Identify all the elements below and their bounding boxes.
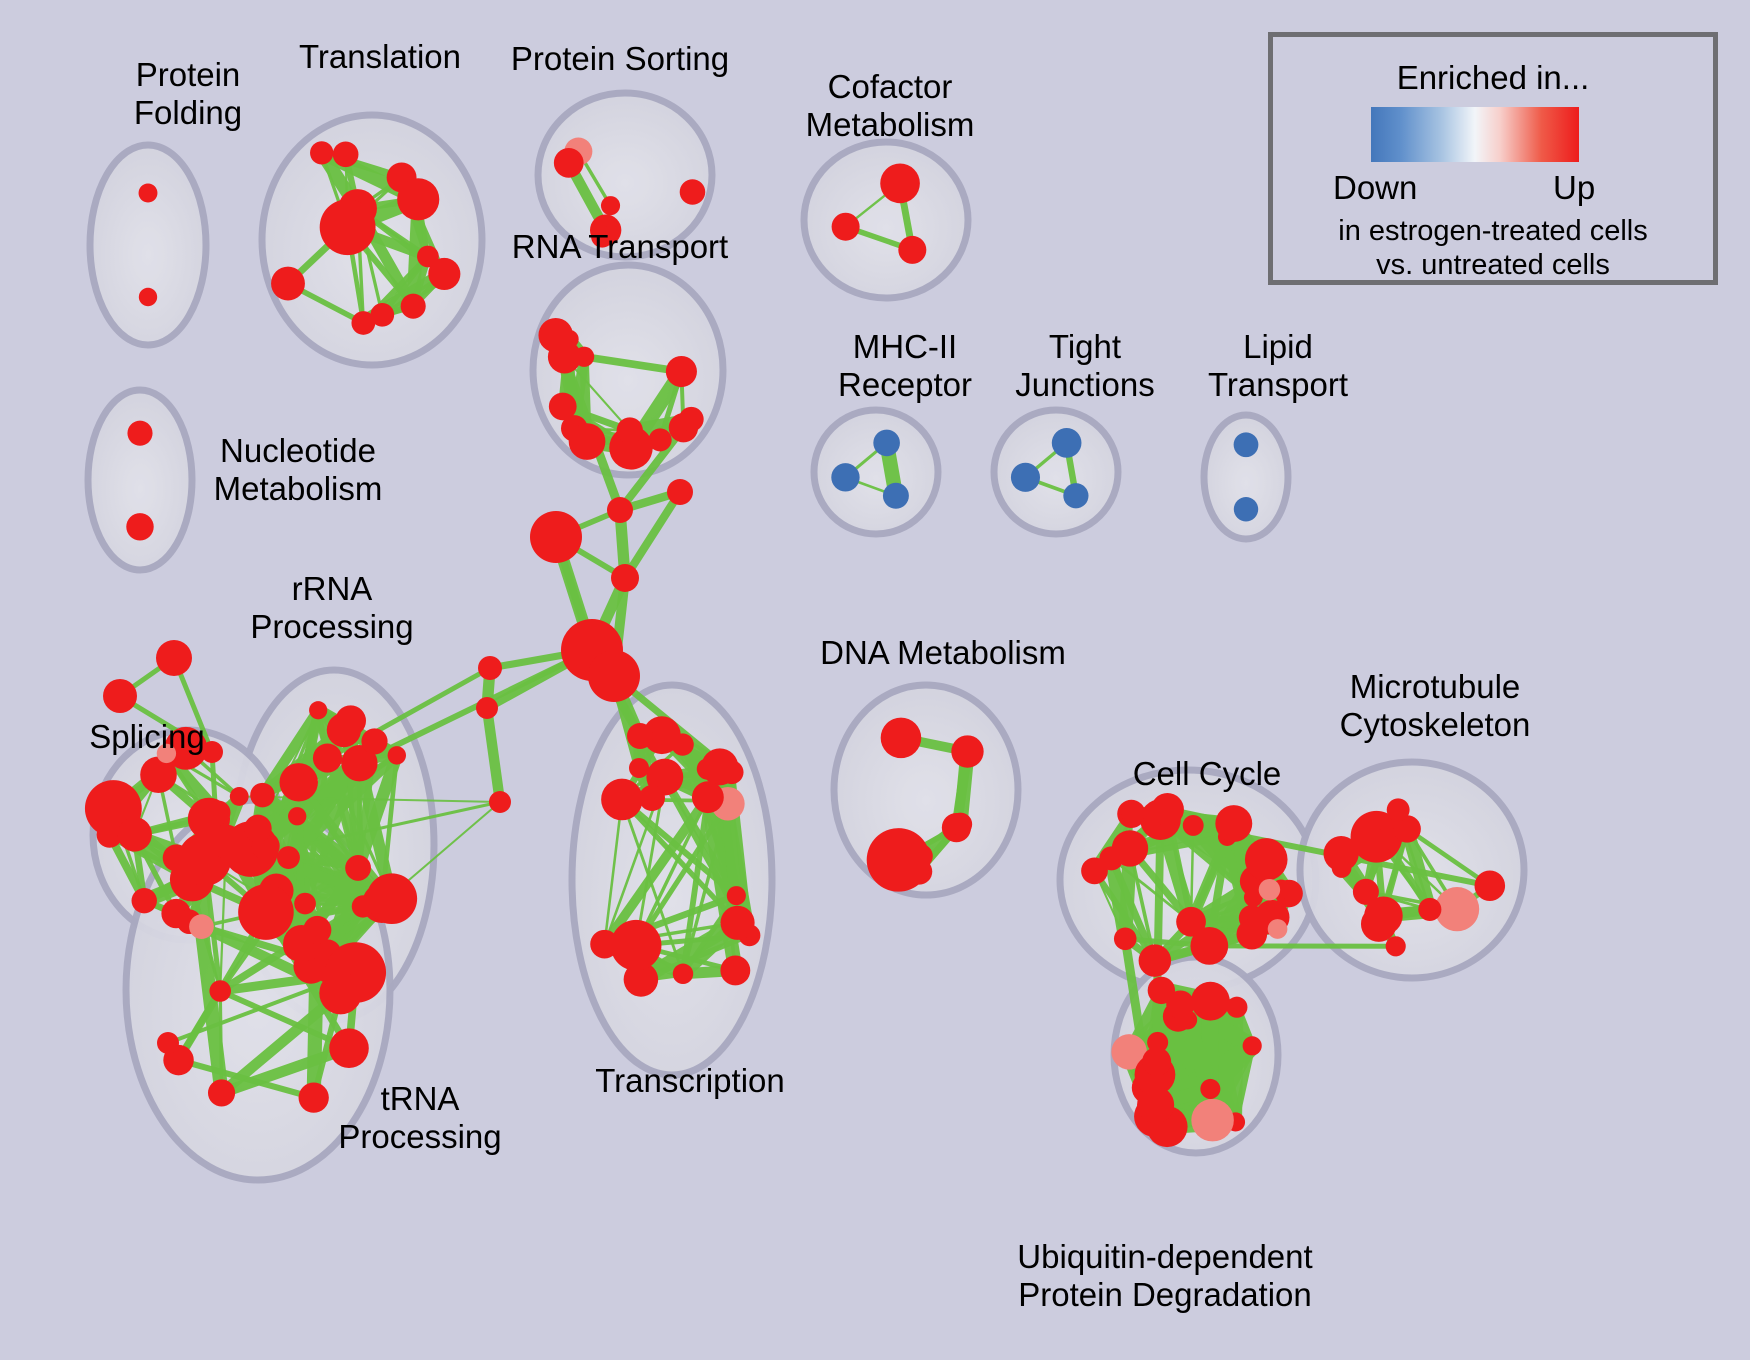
cluster-hull-protein-folding [90,145,206,345]
network-node [666,356,697,387]
network-node [883,483,909,509]
network-node [611,564,639,592]
network-node [1361,906,1397,942]
network-node [294,893,316,915]
network-node [1245,838,1288,881]
network-node [1200,1079,1220,1099]
network-node [1387,798,1410,821]
network-node [1151,793,1184,826]
network-node [727,886,746,905]
network-node [1052,428,1082,458]
network-node [279,763,317,801]
network-node [345,855,371,881]
legend-high-label: Up [1553,169,1595,207]
network-node [209,980,231,1002]
network-node [1234,432,1259,457]
network-node [132,888,157,913]
network-node [1234,497,1258,521]
network-node [591,225,613,247]
network-node [320,199,376,255]
legend-caption-line2: vs. untreated cells [1273,249,1713,282]
network-node [1137,1086,1174,1123]
network-node [1215,805,1252,842]
network-node [692,781,724,813]
network-node [277,846,300,869]
network-node [157,744,176,763]
network-node [478,656,502,680]
network-node [867,828,931,892]
network-node [309,701,327,719]
network-node [156,640,192,676]
network-node [1373,829,1395,851]
network-node [489,791,511,813]
legend-low-label: Down [1333,169,1417,207]
network-node [117,817,151,851]
network-node [1142,1047,1171,1076]
legend-title: Enriched in... [1273,59,1713,97]
network-node [1063,483,1088,508]
network-node [720,956,750,986]
network-node [244,815,271,842]
network-node [329,1028,369,1068]
network-node [601,196,620,215]
network-node [832,213,860,241]
network-node [208,1079,235,1106]
network-node [230,787,249,806]
network-node [949,813,972,836]
network-node [1176,907,1206,937]
network-node [310,141,333,164]
network-node [127,421,152,446]
network-node [667,479,693,505]
network-node [1418,898,1441,921]
network-node [401,294,426,319]
legend-caption-line1: in estrogen-treated cells [1273,215,1713,248]
network-node [627,723,653,749]
network-figure: Protein FoldingTranslationProtein Sortin… [0,0,1750,1360]
network-node [1353,879,1379,905]
network-node [388,746,406,764]
network-node [1259,879,1280,900]
network-node [1243,1036,1262,1055]
network-node [103,679,137,713]
network-node [1121,802,1144,825]
network-node [880,164,920,204]
network-node [361,728,387,754]
network-node [1166,990,1194,1018]
network-node [319,972,362,1015]
network-node [881,718,922,759]
network-node [607,497,633,523]
network-node [139,288,157,306]
network-node [299,1083,329,1113]
cluster-hull-nucleotide-metabolism [88,390,192,570]
network-node [351,311,375,335]
network-node [673,964,693,984]
network-node [476,697,498,719]
network-node [554,148,584,178]
network-node [720,906,754,940]
network-node [951,735,983,767]
network-node [1268,919,1288,939]
network-node [1475,870,1506,901]
network-node [873,430,900,457]
network-node [548,340,581,373]
network-node [1324,836,1359,871]
network-node [157,1032,179,1054]
network-node [209,825,243,859]
network-node [1183,815,1204,836]
network-node [1099,846,1123,870]
network-node [417,246,439,268]
network-node [680,179,706,205]
network-node [288,807,306,825]
network-node [1386,936,1406,956]
network-node [1139,944,1172,977]
network-node [1435,887,1479,931]
network-node [250,783,275,808]
network-node [1114,927,1137,950]
network-node [569,423,606,460]
network-node [366,873,417,924]
network-node [335,705,366,736]
network-node [1237,919,1268,950]
network-node [207,801,231,825]
network-node [639,785,665,811]
network-node [126,513,153,540]
legend-color-bar [1371,107,1579,162]
legend-box: Enriched in... Down Up in estrogen-treat… [1268,32,1718,285]
network-node [1191,1099,1234,1142]
network-node [697,758,718,779]
network-node [313,744,342,773]
network-node [601,779,643,821]
network-node [201,741,223,763]
network-node [611,920,662,971]
cluster-hull-cofactor-metabolism [804,142,968,298]
network-node [679,407,704,432]
network-node [617,417,643,443]
network-node [139,184,158,203]
network-node [303,916,331,944]
network-node [238,884,294,940]
network-node [898,236,926,264]
network-edge [487,708,500,802]
network-node [1011,463,1040,492]
network-node [831,463,859,491]
network-node [271,267,305,301]
network-node [333,141,359,167]
network-node [397,178,439,220]
network-node [629,758,649,778]
network-node [530,511,582,563]
network-node [588,650,640,702]
network-node [189,914,214,939]
network-node [1191,982,1230,1021]
